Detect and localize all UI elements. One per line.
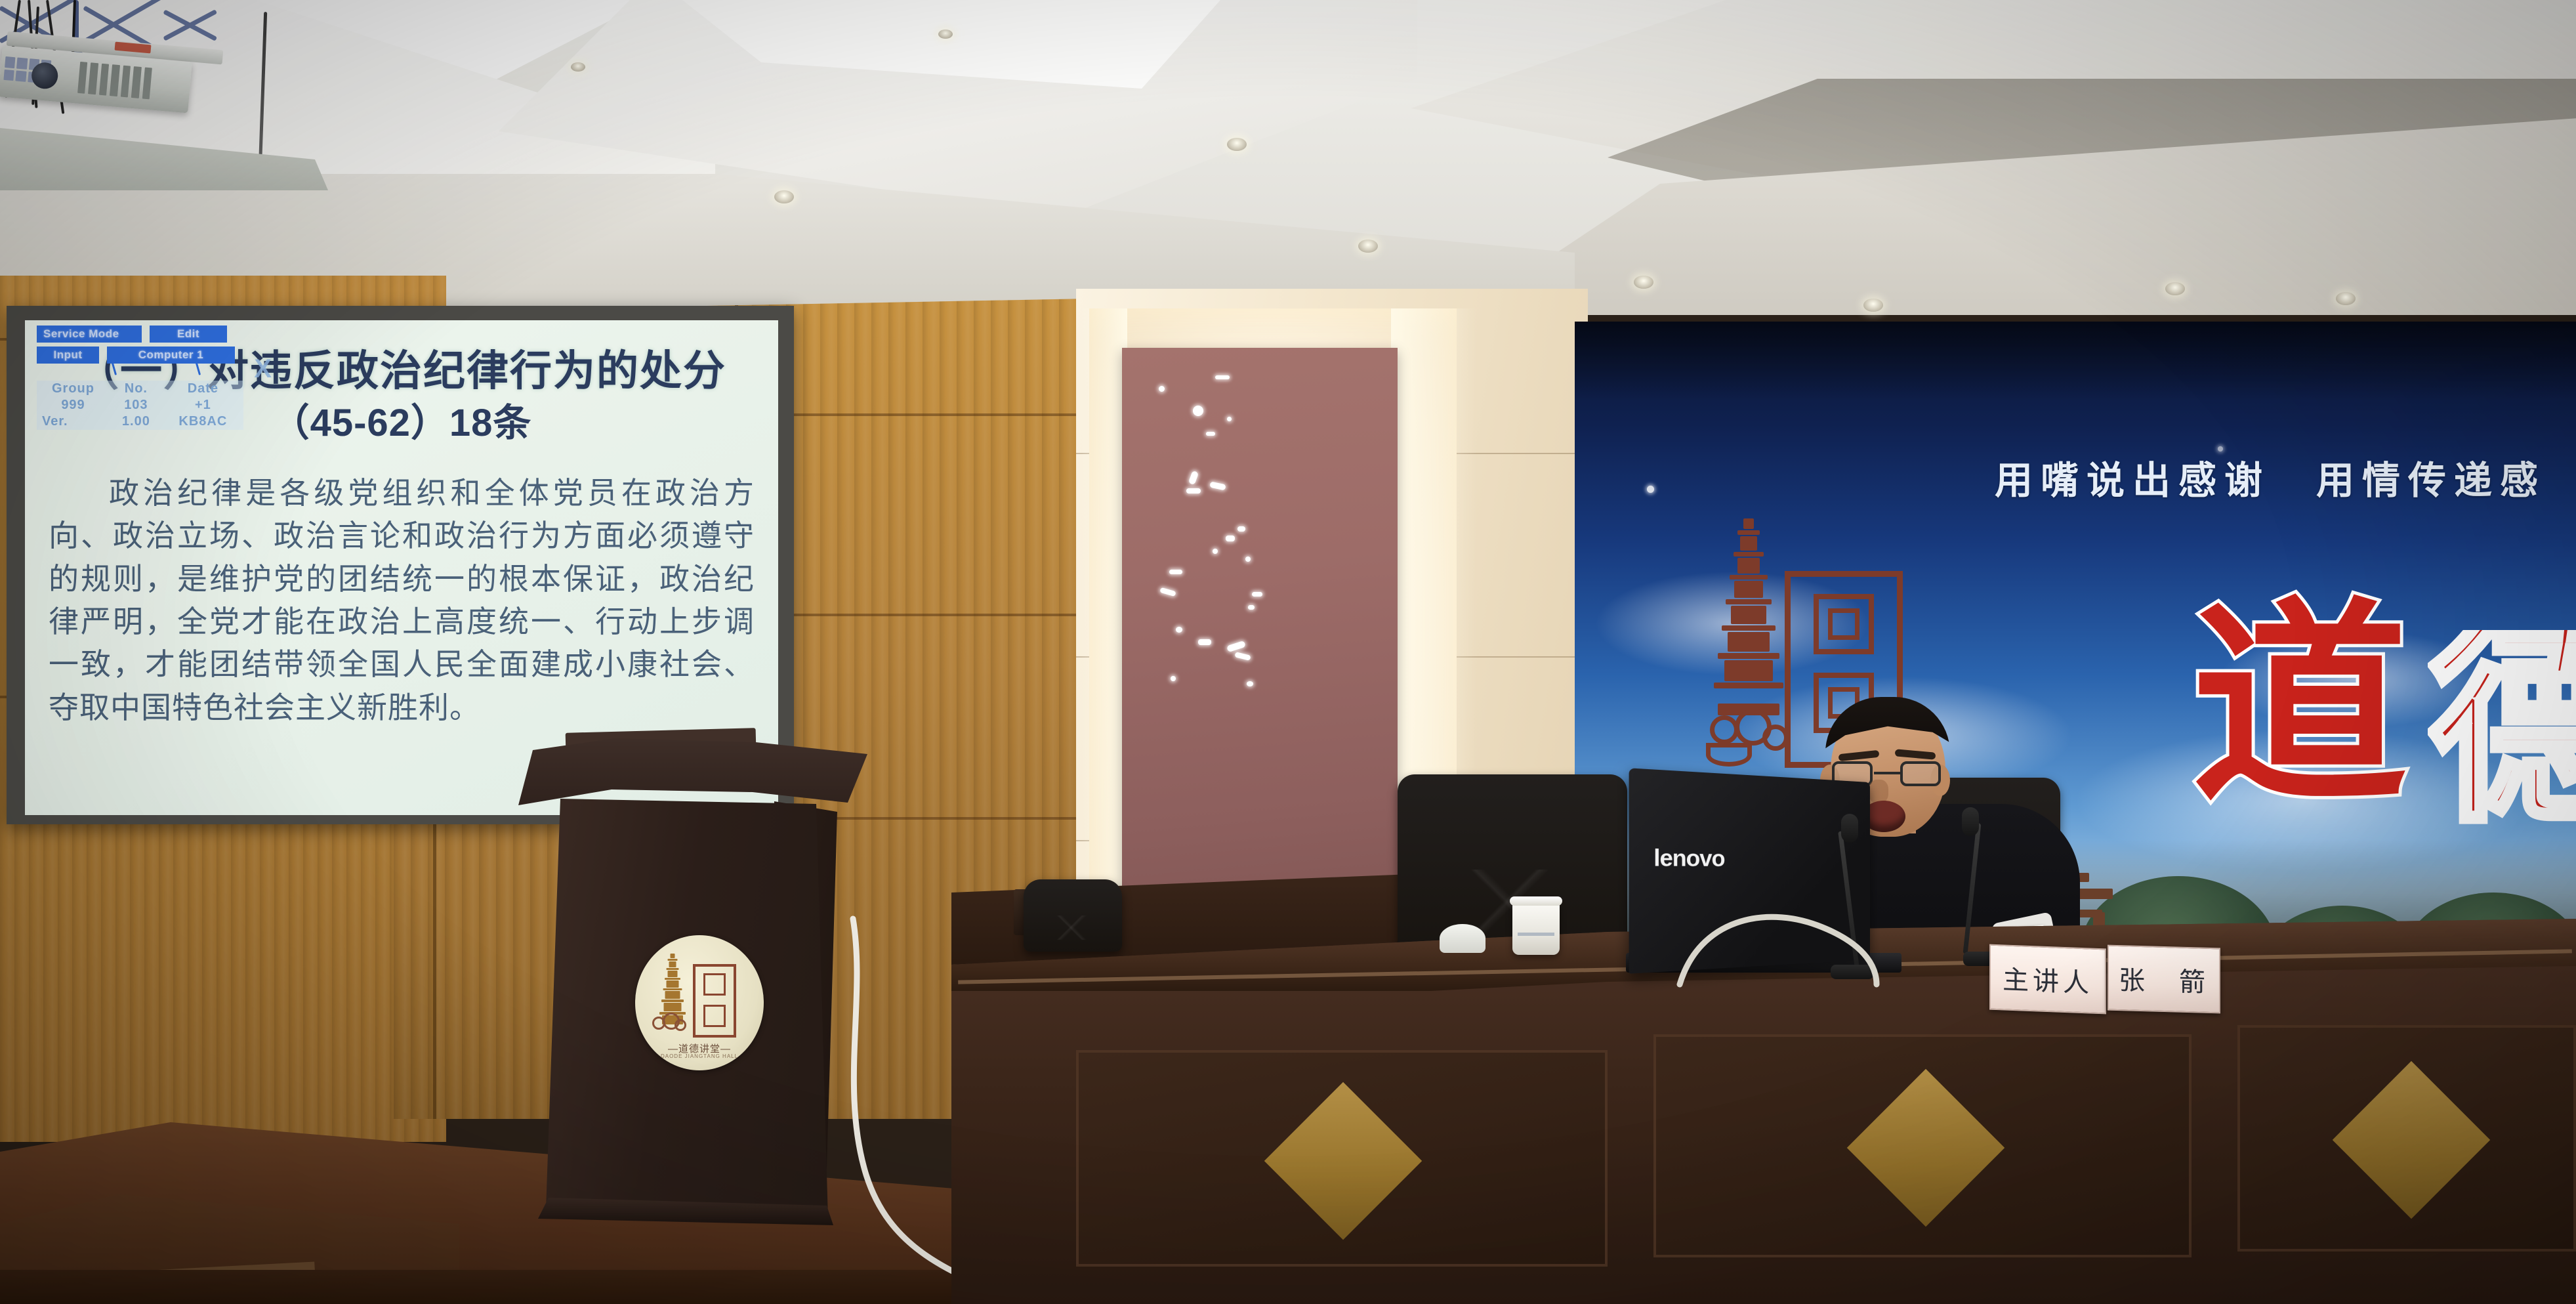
antenna-rod: [259, 12, 267, 169]
osd-value-row: 999 103 +1: [37, 397, 243, 413]
recessed-spotlight-icon: [1863, 299, 1883, 312]
osd-input-label: Input: [37, 347, 99, 364]
slide-body-text: 政治纪律是各级党组织和全体党员在政治方向、政治立场、政治言论和政治行为方面必须遵…: [49, 472, 755, 729]
osd-val-date: +1: [163, 397, 243, 413]
tea-cup-decoration: [1518, 933, 1554, 936]
recessed-spotlight-icon: [1358, 240, 1378, 253]
tea-cup-lid[interactable]: [1510, 896, 1562, 906]
seal-char-dao: [1814, 594, 1874, 654]
laptop-brand-logo: lenovo: [1653, 845, 1724, 873]
banner-top-shading: [1575, 322, 2576, 400]
window-roller-blind[interactable]: [1122, 348, 1398, 965]
table-front-panel: [2237, 1025, 2576, 1251]
osd-val-group: 999: [37, 397, 110, 413]
projector-lens-icon: [31, 62, 59, 90]
osd-menu-title: Service Mode: [37, 326, 142, 343]
podium-front-panel: —道德讲堂— DAODE JIANGTANG HALL: [546, 799, 835, 1219]
osd-version-code: KB8AC: [163, 413, 243, 430]
projector-vent-grille: [77, 62, 152, 99]
table-front-panel: [1653, 1034, 2192, 1257]
calligraphy-de-partial: 德: [2428, 630, 2576, 825]
ceiling-projector: [0, 0, 276, 177]
podium-top-surface: [500, 738, 867, 810]
seal-frame: [693, 964, 736, 1038]
table-cable-loop: [1680, 906, 1929, 991]
cloud-swirl-icon: [651, 1013, 690, 1041]
seal-char-de: [703, 1005, 726, 1027]
osd-brace-marks: [112, 356, 217, 378]
osd-info-table: Group No. Date 999 103 +1 Ver. 1.00: [37, 381, 243, 430]
mic-head-icon: [1962, 807, 1979, 836]
table-diamond-inlay: [1847, 1069, 2005, 1227]
ceiling: [0, 0, 2576, 308]
podium-emblem-en: DAODE JIANGTANG HALL: [635, 1053, 764, 1059]
seal-char-dao: [703, 973, 726, 996]
tea-cup[interactable]: [1512, 902, 1560, 955]
lecture-hall-photo: 用嘴说出感谢 用情传递感: [0, 0, 2576, 1304]
speaker-podium: —道德讲堂— DAODE JIANGTANG HALL: [500, 738, 867, 1237]
nameplate-name: 张 箭: [2108, 945, 2220, 1014]
osd-col-no: No.: [110, 381, 163, 397]
recessed-spotlight-icon: [938, 30, 953, 39]
nameplate-group: 主讲人 张 箭: [1989, 946, 2219, 1022]
osd-col-date: Date: [163, 381, 243, 397]
projector-osd-overlay: Service Mode Edit Input Computer 1 X Gr: [37, 326, 253, 430]
recessed-spotlight-icon: [571, 62, 585, 72]
osd-menu-action[interactable]: Edit: [150, 326, 227, 343]
mic-head-icon: [1841, 814, 1858, 843]
recessed-spotlight-icon: [1227, 138, 1247, 151]
osd-col-group: Group: [37, 381, 110, 397]
podium-emblem: —道德讲堂— DAODE JIANGTANG HALL: [635, 935, 764, 1070]
osd-version-label: Ver.: [37, 413, 110, 430]
pagoda-icon: [1713, 518, 1785, 715]
table-diamond-inlay: [2333, 1061, 2490, 1219]
nameplate-role: 主讲人: [1989, 944, 2106, 1015]
banner-headline: 用嘴说出感谢 用情传递感: [1995, 450, 2576, 505]
osd-val-no: 103: [110, 397, 163, 413]
recessed-spotlight-icon: [1634, 276, 1653, 289]
recessed-spotlight-icon: [2165, 282, 2185, 295]
person-nose: [1869, 780, 1888, 803]
recessed-spotlight-icon: [774, 190, 794, 203]
white-desk-object[interactable]: [1440, 924, 1485, 953]
osd-title-row: Service Mode Edit: [37, 326, 253, 343]
osd-header-row: Group No. Date: [37, 381, 243, 397]
table-front-panel: [1076, 1050, 1608, 1267]
conference-chair[interactable]: [1024, 879, 1122, 952]
mic-stem: [1963, 823, 1982, 954]
calligraphy-dao: 道: [2192, 610, 2408, 805]
osd-version-row: Ver. 1.00 KB8AC: [37, 413, 243, 430]
table-diamond-inlay: [1264, 1082, 1422, 1240]
osd-version-value: 1.00: [110, 413, 163, 430]
recessed-spotlight-icon: [2336, 292, 2356, 305]
osd-cursor-marker: X: [254, 354, 272, 384]
